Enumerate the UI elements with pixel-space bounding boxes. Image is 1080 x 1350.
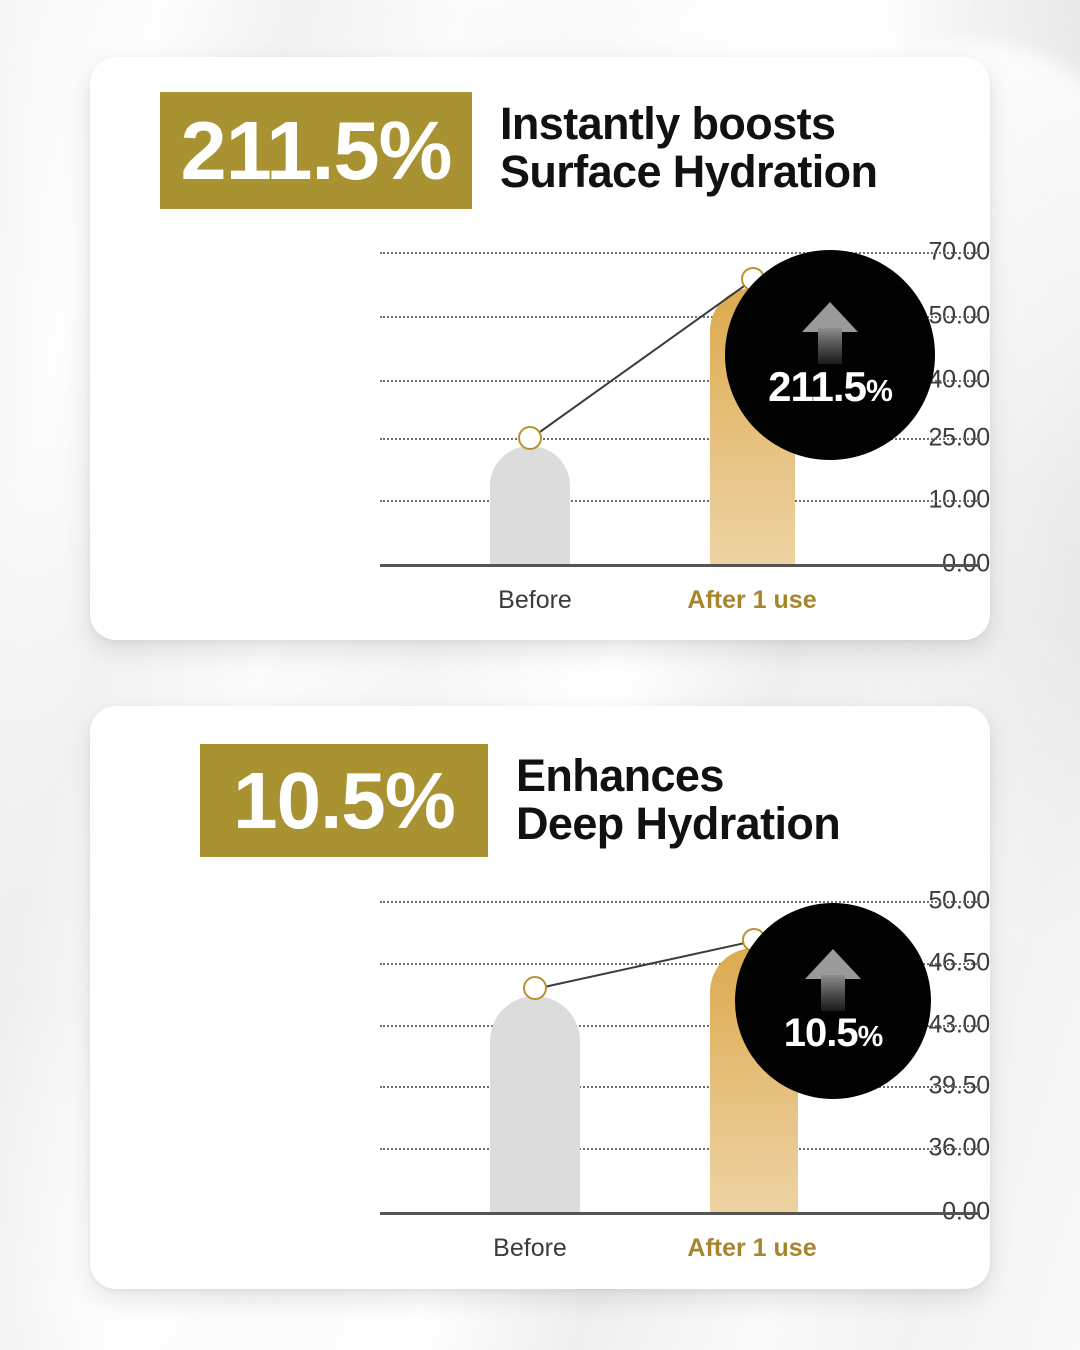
increase-badge-unit: % bbox=[858, 1021, 883, 1053]
x-axis-line bbox=[380, 564, 980, 567]
increase-badge-unit: % bbox=[866, 375, 892, 408]
percent-badge: 10.5% bbox=[200, 744, 488, 857]
increase-badge-value: 211.5% bbox=[768, 366, 892, 408]
chart-gridline bbox=[380, 901, 980, 903]
chart-gridline bbox=[380, 500, 980, 502]
x-axis-category-label: After 1 use bbox=[687, 1234, 816, 1263]
chart-gridline bbox=[380, 252, 980, 254]
data-point-marker bbox=[523, 976, 547, 1000]
increase-badge-value: 10.5% bbox=[784, 1013, 882, 1053]
arrow-up-icon bbox=[802, 302, 858, 364]
percent-badge: 211.5% bbox=[160, 92, 472, 209]
x-axis-category-label: Before bbox=[493, 1234, 567, 1263]
page-title: Enhances Deep Hydration bbox=[516, 752, 840, 847]
card-header-surface-hydration: 211.5% Instantly boosts Surface Hydratio… bbox=[160, 92, 877, 209]
chart-gridline bbox=[380, 1086, 980, 1088]
chart-bar bbox=[490, 446, 570, 564]
chart-bar bbox=[490, 996, 580, 1212]
increase-badge-number: 211.5 bbox=[768, 363, 866, 410]
x-axis-line bbox=[380, 1212, 980, 1215]
increase-badge-surface-hydration: 211.5% bbox=[725, 250, 935, 460]
increase-badge-number: 10.5 bbox=[784, 1011, 858, 1055]
increase-badge-deep-hydration: 10.5% bbox=[735, 903, 931, 1099]
data-point-marker bbox=[518, 426, 542, 450]
x-axis-category-label: Before bbox=[498, 586, 572, 615]
x-axis-category-label: After 1 use bbox=[687, 586, 816, 615]
chart-gridline bbox=[380, 1148, 980, 1150]
page-title: Instantly boosts Surface Hydration bbox=[500, 100, 877, 195]
card-header-deep-hydration: 10.5% Enhances Deep Hydration bbox=[200, 744, 840, 857]
arrow-up-icon bbox=[805, 949, 861, 1011]
